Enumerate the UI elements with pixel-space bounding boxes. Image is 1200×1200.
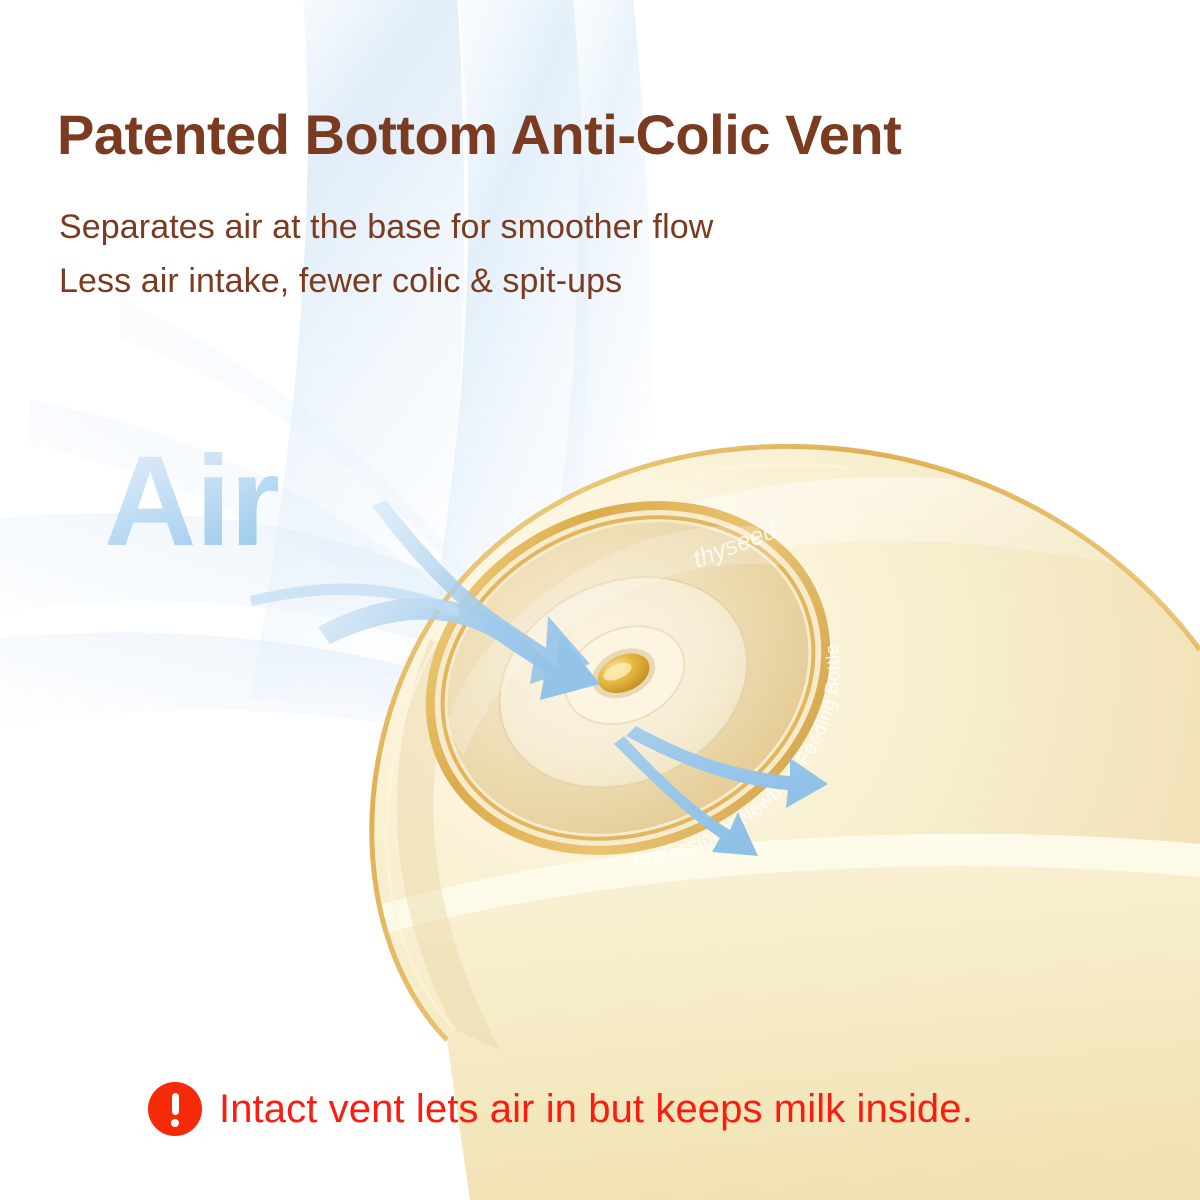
warning-caption: Intact vent lets air in but keeps milk i… [148, 1082, 973, 1136]
airflow-arrows [0, 0, 1200, 1200]
exclamation-circle-icon [148, 1082, 202, 1136]
subtitle-line-1: Separates air at the base for smoother f… [59, 208, 1109, 247]
air-outbound-arrow-1 [626, 726, 828, 808]
warning-caption-text: Intact vent lets air in but keeps milk i… [219, 1087, 973, 1132]
page-title: Patented Bottom Anti-Colic Vent [57, 105, 1157, 165]
air-label: Air [104, 438, 279, 566]
subtitle-line-2: Less air intake, fewer colic & spit-ups [59, 262, 1109, 301]
promo-canvas: Professional Newborn Feeding Bottle thys… [0, 0, 1200, 1200]
